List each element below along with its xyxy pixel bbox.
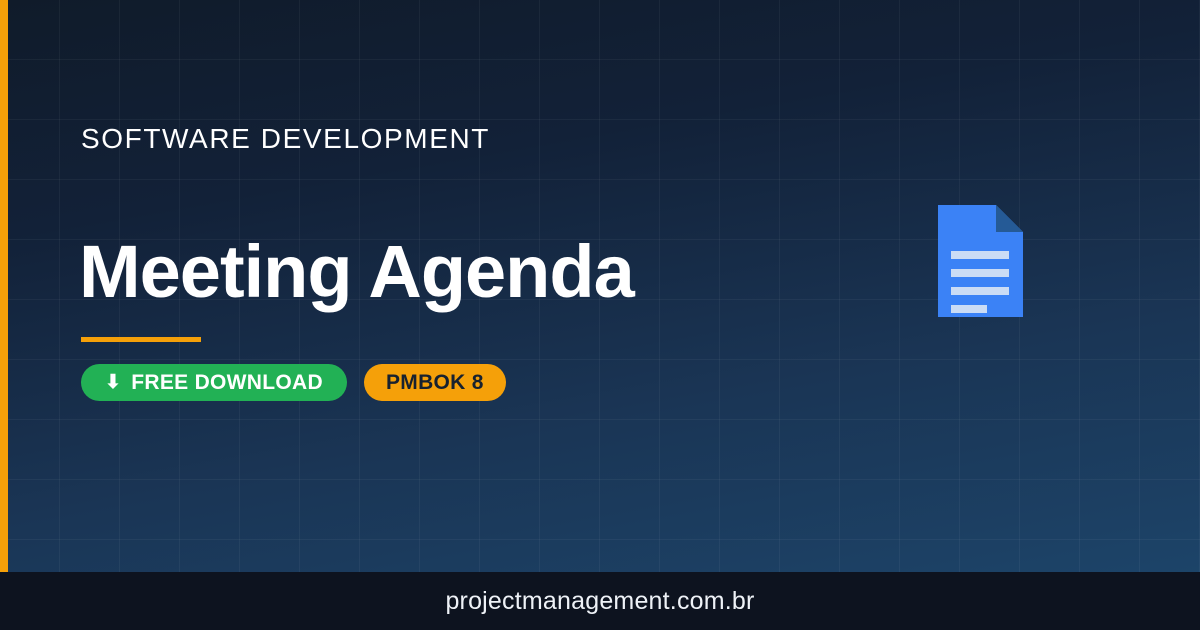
document-text-line [951, 287, 1009, 295]
document-text-line [951, 269, 1009, 277]
pmbok-badge-label: PMBOK 8 [386, 371, 484, 395]
free-download-badge-label: FREE DOWNLOAD [131, 371, 323, 395]
free-download-badge[interactable]: ⬇ FREE DOWNLOAD [81, 364, 347, 401]
badge-group: ⬇ FREE DOWNLOAD PMBOK 8 [81, 364, 506, 401]
footer-bar: projectmanagement.com.br [0, 572, 1200, 630]
promo-banner: SOFTWARE DEVELOPMENT Meeting Agenda ⬇ FR… [0, 0, 1200, 630]
title-divider [81, 337, 201, 342]
banner-content: SOFTWARE DEVELOPMENT Meeting Agenda ⬇ FR… [81, 0, 981, 572]
document-text-line [951, 305, 987, 313]
download-icon: ⬇ [105, 373, 121, 392]
document-fold-corner-icon [996, 205, 1023, 232]
site-url: projectmanagement.com.br [445, 587, 754, 616]
category-label: SOFTWARE DEVELOPMENT [81, 123, 490, 155]
pmbok-badge[interactable]: PMBOK 8 [364, 364, 506, 401]
document-text-line [951, 251, 1009, 259]
document-icon [938, 205, 1023, 317]
left-accent-bar [0, 0, 8, 572]
page-title: Meeting Agenda [79, 235, 634, 309]
